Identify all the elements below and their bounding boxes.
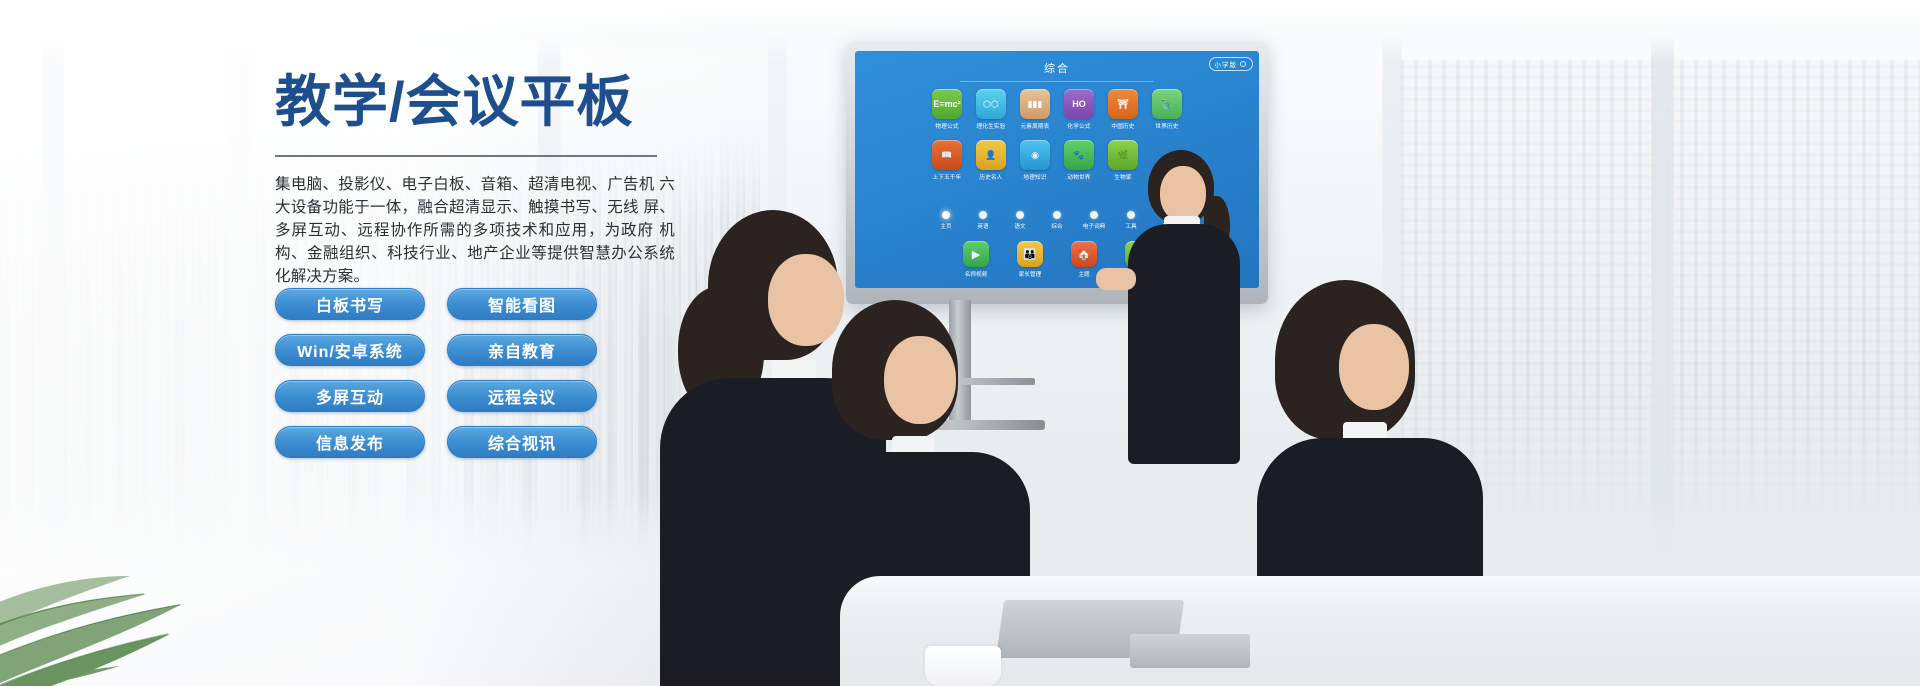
- nav-label: 语文: [1007, 222, 1033, 230]
- shortcut-parent-control[interactable]: 👪 家长管理: [1010, 241, 1050, 278]
- shortcut-teacher-video[interactable]: ▶ 名师视频: [956, 241, 996, 278]
- feature-button-av-conference[interactable]: 综合视讯: [447, 426, 597, 458]
- laptop-2: [1130, 634, 1250, 668]
- coffee-cup: [925, 646, 1001, 686]
- app-label: 世界历史: [1148, 122, 1186, 130]
- nav-dot-icon: [942, 211, 950, 219]
- chemistry-formula-icon: HO: [1064, 89, 1094, 119]
- title-divider: [275, 155, 657, 157]
- attendee2-face: [884, 336, 956, 424]
- paw-icon: 🐾: [1064, 140, 1094, 170]
- feature-button-smart-view[interactable]: 智能看图: [447, 288, 597, 320]
- app-label: 化学公式: [1060, 122, 1098, 130]
- presenter-body: [1128, 224, 1240, 464]
- app-label: 历史名人: [972, 173, 1010, 181]
- shortcut-label: 名师视频: [956, 270, 996, 278]
- app-historic-figures[interactable]: 👤 历史名人: [972, 140, 1010, 181]
- nav-label: 英语: [970, 222, 996, 230]
- nav-dot-icon: [1053, 211, 1061, 219]
- presenter-hand: [1096, 268, 1136, 290]
- app-five-thousand-years[interactable]: 📖 上下五千年: [928, 140, 966, 181]
- app-chinese-history[interactable]: ⛩ 中国历史: [1104, 89, 1142, 130]
- feature-button-multiscreen[interactable]: 多屏互动: [275, 380, 425, 412]
- app-science-lab[interactable]: ⬡⬡ 理化生实验: [972, 89, 1010, 130]
- play-icon: ▶: [963, 241, 989, 267]
- app-label: 理化生实验: [972, 122, 1010, 130]
- world-history-icon: 🗽: [1152, 89, 1182, 119]
- hero-description: 集电脑、投影仪、电子白板、音箱、超清电视、广告机 六大设备功能于一体，融合超清显…: [275, 173, 675, 288]
- nav-dot-icon: [1090, 211, 1098, 219]
- feature-button-parent-edu[interactable]: 亲自教育: [447, 334, 597, 366]
- nav-label: 电子词典: [1081, 222, 1107, 230]
- palm-plant: [0, 436, 300, 686]
- app-label: 元素周期表: [1016, 122, 1054, 130]
- presenter-face: [1160, 166, 1206, 222]
- nav-item-home[interactable]: 主页: [933, 211, 959, 230]
- app-chemistry-formula[interactable]: HO 化学公式: [1060, 89, 1098, 130]
- presenter-figure: [1120, 150, 1250, 480]
- app-world-history[interactable]: 🗽 世界历史: [1148, 89, 1186, 130]
- feature-button-win-android[interactable]: Win/安卓系统: [275, 334, 425, 366]
- app-label: 上下五千年: [928, 173, 966, 181]
- version-badge: 小学版: [1209, 57, 1254, 71]
- app-label: 地理知识: [1016, 173, 1054, 181]
- nav-item-english[interactable]: 英语: [970, 211, 996, 230]
- app-animal-world[interactable]: 🐾 动物世界: [1060, 140, 1098, 181]
- hero-copy: 教学/会议平板 集电脑、投影仪、电子白板、音箱、超清电视、广告机 六大设备功能于…: [275, 72, 675, 288]
- app-label: 动物世界: [1060, 173, 1098, 181]
- science-lab-icon: ⬡⬡: [976, 89, 1006, 119]
- feature-button-remote-meeting[interactable]: 远程会议: [447, 380, 597, 412]
- app-label: 物理公式: [928, 122, 966, 130]
- version-badge-label: 小学版: [1215, 59, 1238, 69]
- refresh-icon[interactable]: [1240, 61, 1246, 67]
- nav-item-comprehensive[interactable]: 综合: [1044, 211, 1070, 230]
- nav-dot-icon: [979, 211, 987, 219]
- nav-dot-icon: [1016, 211, 1024, 219]
- chinese-history-icon: ⛩: [1108, 89, 1138, 119]
- app-label: 中国历史: [1104, 122, 1142, 130]
- home-icon: 🏠: [1071, 241, 1097, 267]
- feature-button-grid: 白板书写 智能看图 Win/安卓系统 亲自教育 多屏互动 远程会议 信息发布 综…: [275, 288, 597, 458]
- family-icon: 👪: [1017, 241, 1043, 267]
- book-icon: 📖: [932, 140, 962, 170]
- shortcut-label: 家长管理: [1010, 270, 1050, 278]
- page-title: 教学/会议平板: [275, 72, 675, 131]
- feature-button-whiteboard[interactable]: 白板书写: [275, 288, 425, 320]
- app-physics-formula[interactable]: E=mc² 物理公式: [928, 89, 966, 130]
- app-geography[interactable]: ◉ 地理知识: [1016, 140, 1054, 181]
- nav-item-chinese[interactable]: 语文: [1007, 211, 1033, 230]
- nav-label: 主页: [933, 222, 959, 230]
- physics-formula-icon: E=mc²: [932, 89, 962, 119]
- periodic-table-icon: ▮▮▮: [1020, 89, 1050, 119]
- nav-label: 综合: [1044, 222, 1070, 230]
- hero-banner: 教学/会议平板 集电脑、投影仪、电子白板、音箱、超清电视、广告机 六大设备功能于…: [0, 0, 1920, 686]
- attendee3-face: [1339, 324, 1409, 410]
- nav-item-dictionary[interactable]: 电子词典: [1081, 211, 1107, 230]
- screen-title: 综合: [855, 60, 1259, 76]
- person-icon: 👤: [976, 140, 1006, 170]
- globe-icon: ◉: [1020, 140, 1050, 170]
- app-periodic-table[interactable]: ▮▮▮ 元素周期表: [1016, 89, 1054, 130]
